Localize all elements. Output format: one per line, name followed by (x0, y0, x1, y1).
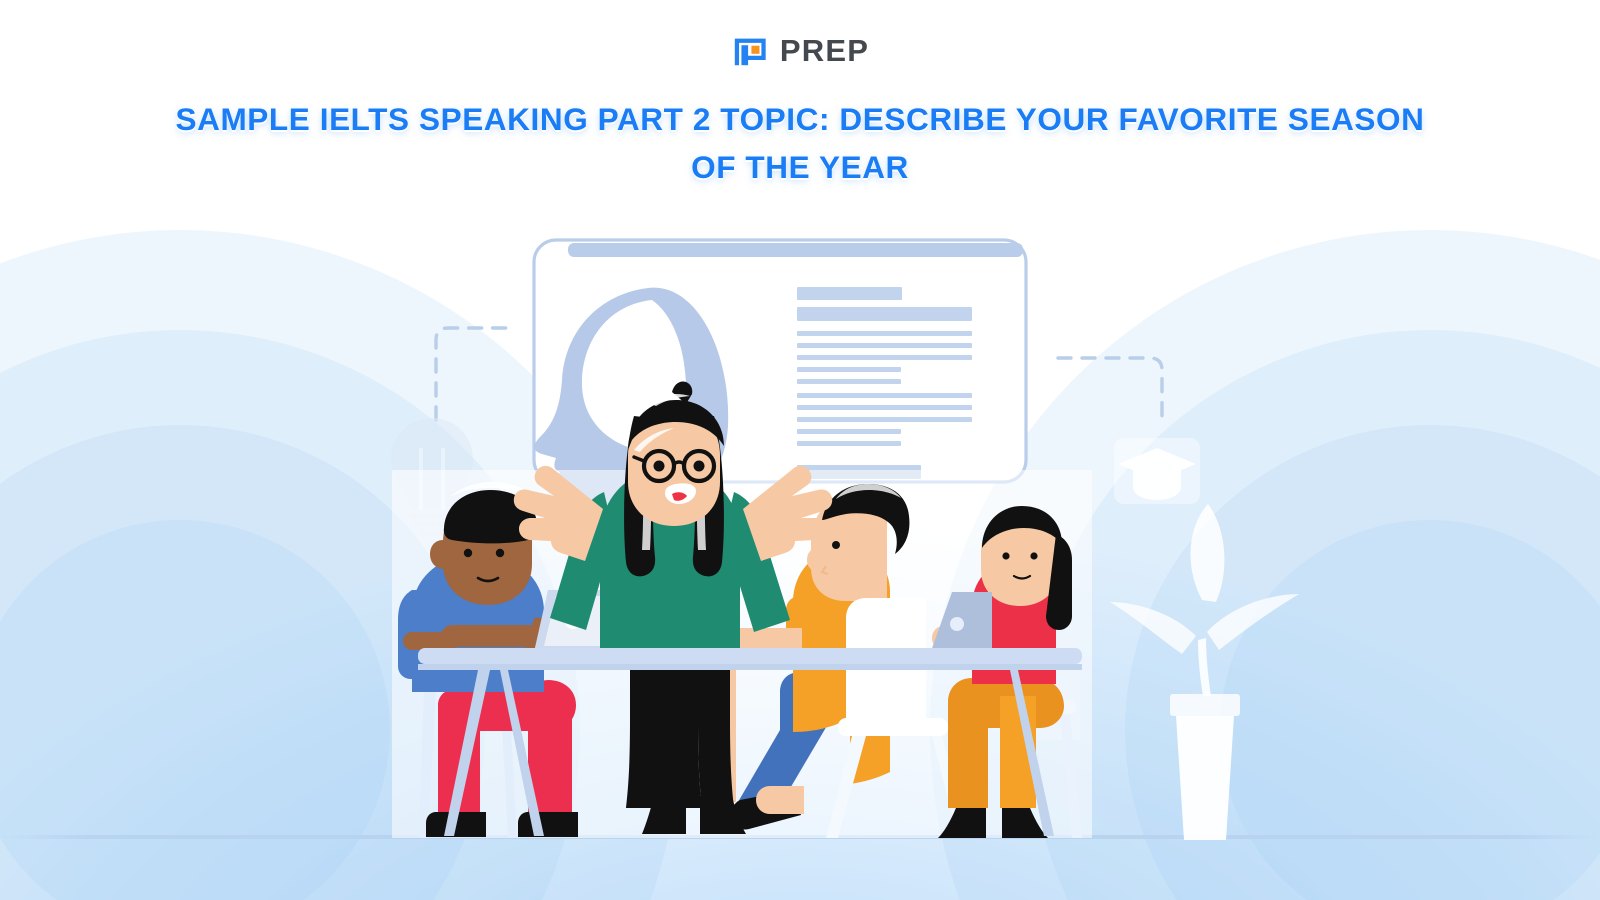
prep-logo[interactable]: PREP (731, 31, 869, 69)
dashed-frame-right-icon (1058, 358, 1162, 425)
page-header: PREP SAMPLE IELTS SPEAKING PART 2 TOPIC:… (0, 0, 1600, 191)
potted-plant (1110, 504, 1299, 840)
prep-logo-text: PREP (780, 35, 869, 66)
dashed-frame-left-icon (436, 328, 512, 420)
prep-logo-mark-icon (731, 31, 769, 69)
graduation-cap-icon (1114, 438, 1200, 504)
page-title: SAMPLE IELTS SPEAKING PART 2 TOPIC: DESC… (0, 95, 1600, 191)
